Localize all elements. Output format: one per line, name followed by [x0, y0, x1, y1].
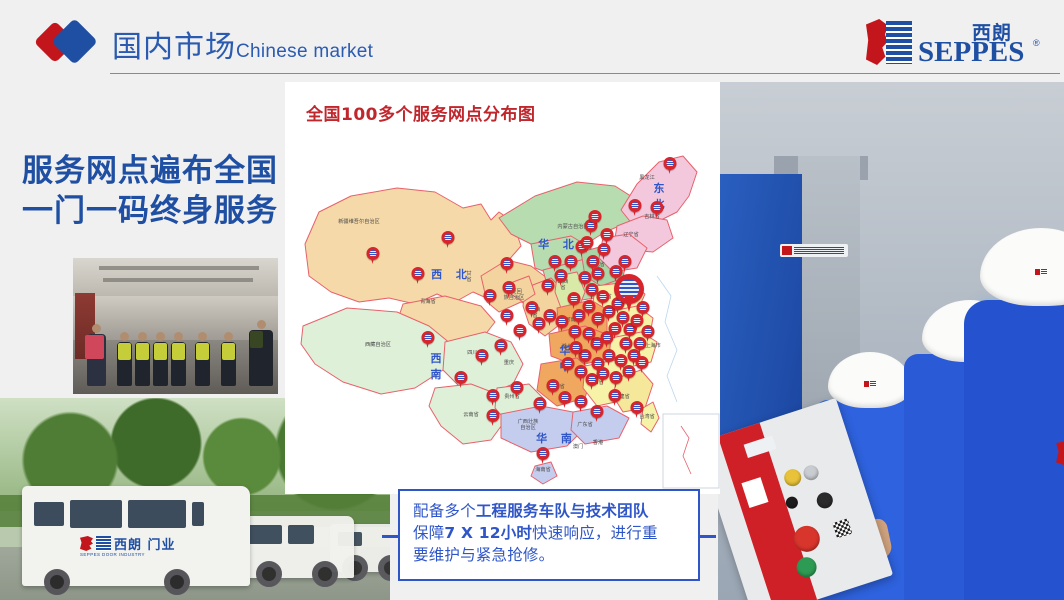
service-location-pin[interactable]	[597, 367, 610, 384]
service-location-pin[interactable]	[591, 405, 604, 422]
caption-line-3: 要维护与紧急抢修。	[413, 544, 686, 566]
caption-2b: 7 X 12小时	[444, 524, 532, 542]
caption-box: 配备多个工程服务车队与技术团队 保障7 X 12小时快速响应，进行重 要维护与紧…	[398, 489, 700, 581]
region-label: 华 北	[538, 236, 576, 252]
service-location-pin[interactable]	[579, 271, 592, 288]
province-label: 辽宁省	[623, 233, 639, 239]
headline-line-2: 一门一码终身服务	[22, 192, 284, 232]
province-label: 澳门	[573, 445, 583, 451]
service-location-pin[interactable]	[442, 231, 455, 248]
service-location-pin[interactable]	[526, 301, 539, 318]
service-location-pin[interactable]	[422, 331, 435, 348]
service-location-pin[interactable]	[601, 228, 614, 245]
brand-logo: 西朗 SEPPES ®	[866, 18, 1042, 66]
service-location-pin[interactable]	[542, 279, 555, 296]
uniform-back-logo	[1056, 440, 1064, 466]
service-location-pin[interactable]	[484, 289, 497, 306]
service-location-pin[interactable]	[501, 257, 514, 274]
caption-connector-left	[382, 535, 400, 538]
headline-line-1: 服务网点遍布全国	[22, 152, 284, 192]
service-location-pin[interactable]	[476, 349, 489, 366]
service-location-pin[interactable]	[562, 357, 575, 374]
van-primary: 西朗 门业 SEPPES DOOR INDUSTRY	[22, 486, 250, 586]
province-label: 青海省	[420, 300, 436, 306]
van-logo-en: SEPPES DOOR INDUSTRY	[80, 552, 145, 557]
service-location-pin[interactable]	[534, 397, 547, 414]
service-location-pin[interactable]	[664, 157, 677, 174]
service-location-pin[interactable]	[568, 292, 581, 309]
service-location-pin[interactable]	[556, 315, 569, 332]
caption-connector-right	[698, 535, 716, 538]
service-location-pin[interactable]	[642, 325, 655, 342]
service-location-pin[interactable]	[609, 389, 622, 406]
lion-head-icon	[866, 19, 912, 65]
van-logo-cn: 西朗 门业	[114, 534, 176, 553]
region-label: 西 北	[431, 266, 469, 282]
caption-2a: 保障	[413, 524, 444, 542]
caption-1a: 配备多个	[413, 502, 476, 520]
service-location-pin[interactable]	[570, 341, 583, 358]
service-location-pin[interactable]	[636, 356, 649, 373]
page-title: 国内市场Chinese market	[112, 22, 373, 66]
service-location-pin[interactable]	[623, 365, 636, 382]
province-label: 云南省	[463, 413, 479, 419]
technicians-inspecting-control-panel-photo	[718, 82, 1064, 600]
map-panel: 全国100多个服务网点分布图	[285, 82, 720, 494]
service-location-pin[interactable]	[503, 281, 516, 298]
service-location-pin[interactable]	[537, 447, 550, 464]
province-label: 新疆维吾尔自治区	[338, 220, 380, 226]
team-briefing-photo	[73, 258, 278, 394]
caption-2c: 快速响应，进行重	[532, 524, 658, 542]
service-location-pin[interactable]	[367, 247, 380, 264]
service-location-pin[interactable]	[412, 267, 425, 284]
headline: 服务网点遍布全国 一门一码终身服务	[22, 152, 284, 231]
region-label: 华 南	[536, 430, 574, 446]
province-label: 上海市	[645, 344, 661, 350]
province-label: 香港	[593, 441, 603, 447]
province-label: 海南省	[535, 468, 551, 474]
region-label: 西 南	[431, 350, 444, 382]
header-divider	[110, 73, 1060, 74]
service-location-pin[interactable]	[598, 243, 611, 260]
service-location-pin[interactable]	[575, 395, 588, 412]
technician-foreground	[964, 228, 1064, 600]
service-location-pin[interactable]	[487, 389, 500, 406]
service-location-pin[interactable]	[651, 201, 664, 218]
slide-root: 国内市场Chinese market 西朗 SEPPES ® 服务网点遍布全国 …	[0, 0, 1064, 600]
province-label: 广东省	[577, 423, 593, 429]
van-second	[238, 516, 354, 578]
service-location-pin[interactable]	[583, 327, 596, 344]
service-location-pin[interactable]	[592, 267, 605, 284]
service-location-pin[interactable]	[495, 339, 508, 356]
service-location-pin[interactable]	[581, 236, 594, 253]
caption-line-1: 配备多个工程服务车队与技术团队	[413, 500, 686, 522]
diamond-logo-icon	[38, 22, 110, 62]
service-location-pin[interactable]	[487, 409, 500, 426]
service-location-pin[interactable]	[565, 255, 578, 272]
province-label: 黑龙江	[639, 176, 655, 182]
page-title-cn: 国内市场	[112, 30, 236, 65]
service-location-pin[interactable]	[631, 401, 644, 418]
service-location-pin[interactable]	[610, 371, 623, 388]
service-location-pin[interactable]	[514, 324, 527, 341]
service-location-pin[interactable]	[501, 309, 514, 326]
province-label: 重庆	[504, 361, 514, 367]
service-location-pin[interactable]	[569, 325, 582, 342]
headquarters-pin[interactable]	[614, 274, 644, 312]
caption-line-2: 保障7 X 12小时快速响应，进行重	[413, 522, 686, 544]
service-location-pin[interactable]	[619, 255, 632, 272]
service-location-pin[interactable]	[559, 391, 572, 408]
registered-mark: ®	[1033, 38, 1040, 48]
map-title: 全国100多个服务网点分布图	[306, 100, 536, 125]
caption-1b: 工程服务车队与技术团队	[476, 502, 649, 520]
slide-header: 国内市场Chinese market 西朗 SEPPES ®	[0, 0, 1064, 82]
service-location-pin[interactable]	[511, 381, 524, 398]
service-location-pin[interactable]	[629, 199, 642, 216]
china-map: 新疆维吾尔自治区青海省西藏自治区甘 省宁夏回 族自治区陕西 省内蒙古自治区山西 …	[285, 126, 720, 494]
province-label: 西藏自治区	[365, 343, 391, 349]
door-brand-sign	[780, 244, 848, 257]
service-location-pin[interactable]	[455, 371, 468, 388]
page-title-en: Chinese market	[236, 41, 373, 62]
service-location-pin[interactable]	[589, 210, 602, 227]
van-brand-logo: 西朗 门业	[80, 534, 176, 553]
brand-name-en: SEPPES	[918, 36, 1024, 69]
